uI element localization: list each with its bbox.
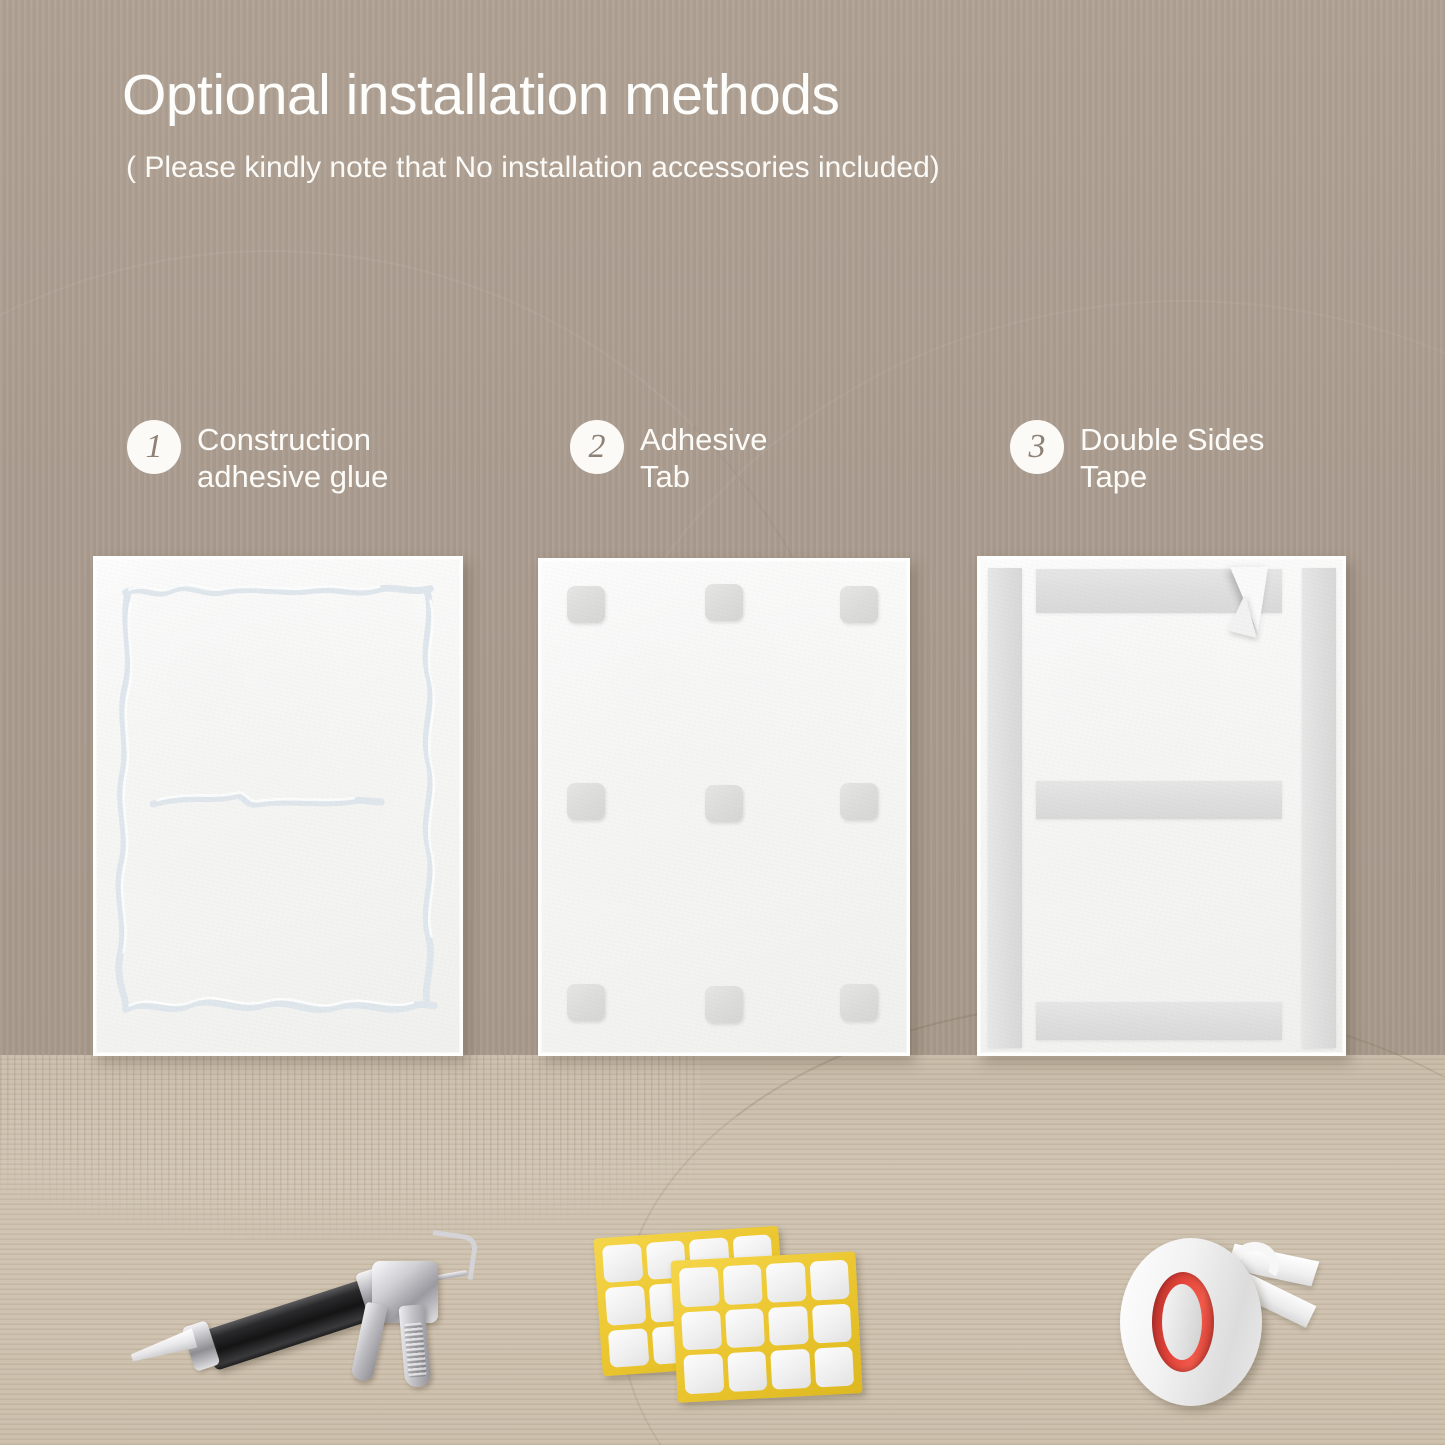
tape-strip-left	[988, 568, 1022, 1048]
circle-number-icon: 3	[1010, 420, 1064, 474]
adhesive-tab	[567, 586, 605, 623]
caulk-gun-photo	[110, 1225, 490, 1425]
circle-number-icon: 1	[127, 420, 181, 474]
sheet-tab	[811, 1303, 851, 1344]
step-label-3-text: Double Sides Tape	[1080, 420, 1264, 495]
sheet-tab	[768, 1306, 808, 1347]
caulk-gun-handle-grip	[404, 1322, 427, 1377]
sheet-tab	[766, 1262, 806, 1303]
sheet-tab	[681, 1310, 721, 1351]
double-sided-tape-roll-photo	[1110, 1228, 1330, 1418]
step-label-2: 2 Adhesive Tab	[570, 420, 768, 495]
sheet-tab	[602, 1243, 643, 1283]
step-label-1-text: Construction adhesive glue	[197, 420, 388, 495]
tape-strip-right	[1302, 568, 1336, 1048]
adhesive-tab	[840, 586, 878, 623]
sheet-tab	[605, 1286, 646, 1326]
adhesive-tab-panel	[538, 558, 910, 1056]
adhesive-tab	[567, 783, 605, 820]
tape-strip-middle	[1036, 781, 1282, 819]
sheet-tab	[683, 1354, 723, 1395]
circle-number-icon: 2	[570, 420, 624, 474]
adhesive-tab	[840, 783, 878, 820]
sheet-tab	[770, 1349, 810, 1390]
adhesive-tab	[705, 986, 743, 1023]
step-label-3: 3 Double Sides Tape	[1010, 420, 1264, 495]
step-label-1: 1 Construction adhesive glue	[127, 420, 388, 495]
double-sided-tape-panel	[977, 556, 1346, 1056]
sheet-tab	[814, 1347, 854, 1388]
page-title: Optional installation methods	[122, 66, 839, 126]
step-label-2-text: Adhesive Tab	[640, 420, 768, 495]
adhesive-tab	[705, 584, 743, 621]
adhesive-tab	[840, 984, 878, 1021]
infographic-canvas: Optional installation methods ( Please k…	[0, 0, 1445, 1445]
sheet-tab	[679, 1266, 719, 1307]
page-subtitle: ( Please kindly note that No installatio…	[126, 150, 940, 186]
tape-roll-core-hole	[1162, 1284, 1202, 1360]
adhesive-tab	[567, 984, 605, 1021]
sheet-tab	[608, 1328, 649, 1368]
sheet-tab	[727, 1351, 767, 1392]
adhesive-tab-sheets-photo	[596, 1228, 866, 1428]
caulk-gun-nozzle	[129, 1328, 198, 1365]
sheet-tab	[809, 1260, 849, 1301]
glue-bead-illustration	[96, 559, 460, 1053]
tape-strip-bottom	[1036, 1002, 1282, 1040]
adhesive-tab-sheet-front	[670, 1251, 862, 1402]
sheet-tab	[722, 1264, 762, 1305]
glue-bead-panel	[93, 556, 463, 1056]
sheet-tab	[725, 1308, 765, 1349]
adhesive-tab	[705, 785, 743, 822]
